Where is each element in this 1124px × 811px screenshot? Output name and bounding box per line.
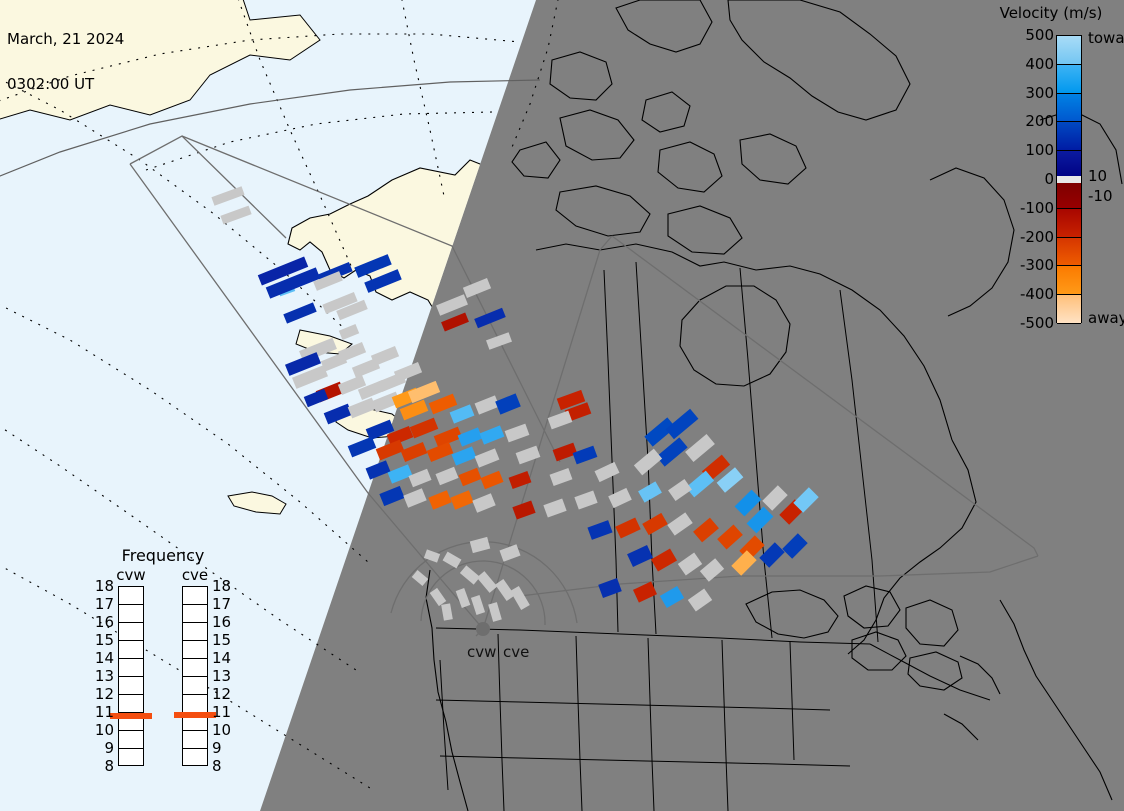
frequency-title: Frequency — [88, 546, 238, 565]
frequency-tick: 15 — [212, 631, 231, 649]
frequency-tick: 14 — [88, 649, 114, 667]
frequency-tick: 10 — [88, 721, 114, 739]
colorbar-segment — [1057, 36, 1081, 65]
colorbar-title: Velocity (m/s) — [982, 4, 1120, 22]
colorbar-segment — [1057, 65, 1081, 94]
radar-label-cve[interactable]: cve — [503, 643, 529, 661]
colorbar-tick: -300 — [994, 256, 1054, 274]
frequency-tick: 13 — [88, 667, 114, 685]
frequency-row — [183, 587, 207, 605]
frequency-tick: 18 — [212, 577, 231, 595]
frequency-row — [119, 623, 143, 641]
colorbar-segment — [1057, 209, 1081, 238]
superdarn-map-view: March, 21 2024 0302:00 UT Velocity (m/s)… — [0, 0, 1124, 811]
frequency-tick: 17 — [212, 595, 231, 613]
colorbar-segment — [1057, 94, 1081, 123]
frequency-tick: 14 — [212, 649, 231, 667]
frequency-tick: 16 — [212, 613, 231, 631]
frequency-row — [183, 623, 207, 641]
colorbar-tick: 300 — [994, 84, 1054, 102]
frequency-row — [183, 677, 207, 695]
frequency-row — [183, 749, 207, 767]
frequency-tick: 15 — [88, 631, 114, 649]
colorbar-tick: 200 — [994, 112, 1054, 130]
colorbar-zero-band — [1057, 176, 1081, 183]
frequency-tick: 8 — [212, 757, 222, 775]
frequency-row — [183, 605, 207, 623]
frequency-row — [119, 659, 143, 677]
frequency-tick: 12 — [212, 685, 231, 703]
colorbar-segment — [1057, 266, 1081, 295]
frequency-scale-cvw — [118, 586, 144, 766]
frequency-row — [183, 641, 207, 659]
frequency-tick: 11 — [88, 703, 114, 721]
frequency-tick: 18 — [88, 577, 114, 595]
colorbar-tick: 400 — [994, 55, 1054, 73]
frequency-marker-cve — [174, 712, 216, 718]
colorbar-tick: -400 — [994, 285, 1054, 303]
frequency-tick: 16 — [88, 613, 114, 631]
colorbar-tick: -200 — [994, 228, 1054, 246]
frequency-tick: 9 — [212, 739, 222, 757]
frequency-row — [119, 677, 143, 695]
frequency-panel: Frequency cvw18171615141312111098cve1817… — [88, 546, 238, 782]
frequency-scale-cve — [182, 586, 208, 766]
frequency-tick: 13 — [212, 667, 231, 685]
frequency-row — [119, 605, 143, 623]
frequency-tick: 10 — [212, 721, 231, 739]
frequency-tick: 9 — [88, 739, 114, 757]
timestamp-date: March, 21 2024 — [7, 32, 124, 47]
frequency-tick: 11 — [212, 703, 231, 721]
colorbar-gradient — [1056, 35, 1082, 323]
frequency-row — [183, 731, 207, 749]
colorbar-tick: 100 — [994, 141, 1054, 159]
colorbar-segment — [1057, 180, 1081, 209]
colorbar-label: 10 — [1088, 167, 1107, 185]
colorbar-label: away — [1088, 309, 1124, 327]
timestamp-block: March, 21 2024 0302:00 UT — [7, 2, 124, 122]
frequency-row — [119, 749, 143, 767]
colorbar-tick: -500 — [994, 314, 1054, 332]
radar-site-marker[interactable] — [476, 622, 490, 636]
frequency-tick: 17 — [88, 595, 114, 613]
colorbar-tick: -100 — [994, 199, 1054, 217]
colorbar-segment — [1057, 295, 1081, 324]
frequency-row — [183, 659, 207, 677]
radar-label-cvw[interactable]: cvw — [467, 643, 496, 661]
colorbar-segment — [1057, 122, 1081, 151]
colorbar-tick: 500 — [994, 26, 1054, 44]
frequency-column-name: cvw — [108, 566, 154, 584]
colorbar-label: -10 — [1088, 187, 1113, 205]
frequency-tick: 8 — [88, 757, 114, 775]
frequency-row — [119, 641, 143, 659]
frequency-row — [119, 587, 143, 605]
frequency-marker-cvw — [110, 713, 152, 719]
frequency-row — [119, 731, 143, 749]
frequency-tick: 12 — [88, 685, 114, 703]
velocity-colorbar: Velocity (m/s) 5004003002001000-100-200-… — [978, 4, 1120, 334]
colorbar-segment — [1057, 238, 1081, 267]
colorbar-label: toward — [1088, 29, 1124, 47]
timestamp-time: 0302:00 UT — [7, 77, 124, 92]
frequency-row — [119, 695, 143, 713]
frequency-row — [183, 695, 207, 713]
colorbar-tick: 0 — [994, 170, 1054, 188]
